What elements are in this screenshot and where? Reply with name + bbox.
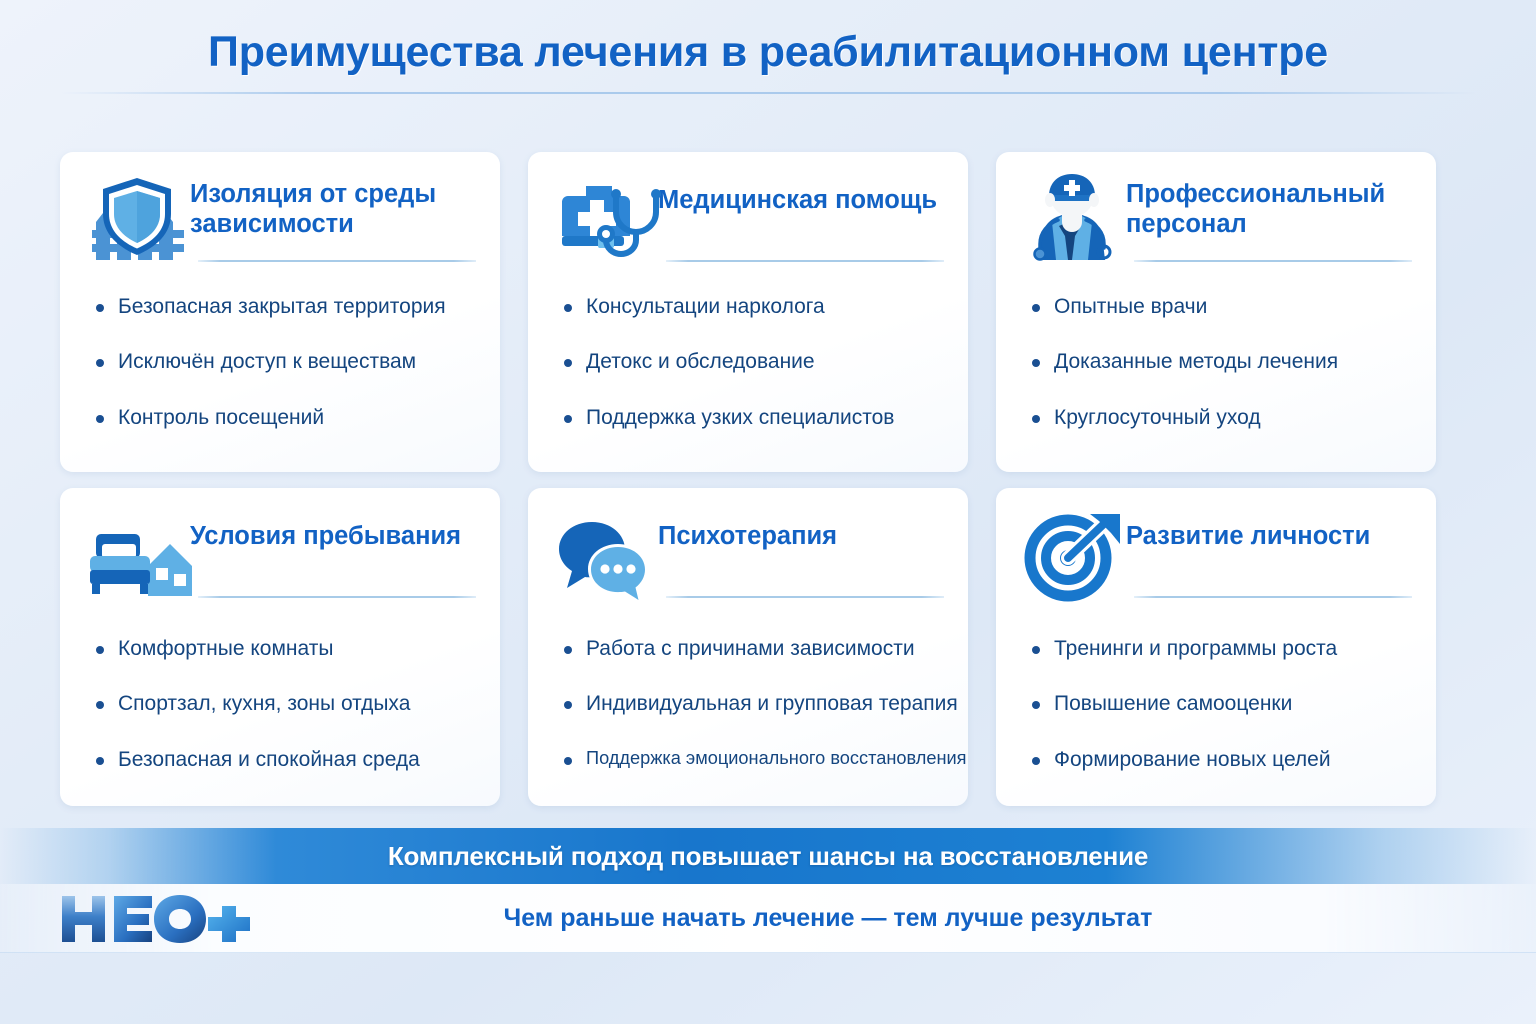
card-header: Психотерапия [528,488,968,606]
card-divider [1134,260,1412,262]
list-item: Контроль посещений [96,405,478,431]
header-divider [60,92,1476,94]
footer-banner: Комплексный подход повышает шансы на вос… [0,828,1536,884]
benefit-card-psychotherapy: Психотерапия Работа с причинами зависимо… [528,488,968,806]
benefit-card-accommodation: Условия пребывания Комфортные комнаты Сп… [60,488,500,806]
list-item: Поддержка узких специалистов [564,405,946,431]
doctor-icon [1022,172,1130,268]
card-title: Условия пребывания [190,510,461,552]
list-item: Безопасная и спокойная среда [96,747,478,773]
benefit-list: Работа с причинами зависимости Индивидуа… [528,606,968,769]
medical-kit-stethoscope-icon [554,172,662,268]
page-title: Преимущества лечения в реабилитационном … [0,28,1536,77]
shield-fence-icon [86,172,194,268]
header: Преимущества лечения в реабилитационном … [0,28,1536,77]
card-header: Развитие личности [996,488,1436,606]
benefit-list: Комфортные комнаты Спортзал, кухня, зоны… [60,606,500,773]
infographic-page: Преимущества лечения в реабилитационном … [0,0,1536,1024]
card-title: Развитие личности [1126,510,1370,552]
list-item: Тренинги и программы роста [1032,636,1414,662]
benefits-grid: Изоляция от среды зависимости Безопасная… [60,152,1476,806]
list-item: Спортзал, кухня, зоны отдыха [96,691,478,717]
list-item: Детокс и обследование [564,349,946,375]
list-item: Комфортные комнаты [96,636,478,662]
list-item: Доказанные методы лечения [1032,349,1414,375]
tagline-text: Чем раньше начать лечение — тем лучше ре… [504,904,1153,933]
target-arrow-icon [1022,508,1130,604]
benefit-list: Опытные врачи Доказанные методы лечения … [996,270,1436,431]
list-item: Индивидуальная и групповая терапия [564,691,946,717]
benefit-list: Консультации нарколога Детокс и обследов… [528,270,968,431]
card-header: Медицинская помощь [528,152,968,270]
card-title: Психотерапия [658,510,837,552]
banner-text: Комплексный подход повышает шансы на вос… [388,841,1148,872]
card-divider [666,596,944,598]
card-divider [198,596,476,598]
card-title: Медицинская помощь [658,174,937,216]
neo-plus-logo [56,890,266,948]
list-item: Консультации нарколога [564,294,946,320]
benefit-list: Тренинги и программы роста Повышение сам… [996,606,1436,773]
card-header: Изоляция от среды зависимости [60,152,500,270]
benefit-card-staff: Профессиональный персонал Опытные врачи … [996,152,1436,472]
list-item: Опытные врачи [1032,294,1414,320]
list-item: Поддержка эмоционального восстановления [564,747,946,770]
card-title: Изоляция от среды зависимости [190,174,474,239]
list-item: Формирование новых целей [1032,747,1414,773]
benefit-card-isolation: Изоляция от среды зависимости Безопасная… [60,152,500,472]
list-item: Круглосуточный уход [1032,405,1414,431]
card-divider [198,260,476,262]
card-header: Условия пребывания [60,488,500,606]
list-item: Безопасная закрытая территория [96,294,478,320]
list-item: Повышение самооценки [1032,691,1414,717]
list-item: Исключён доступ к веществам [96,349,478,375]
card-divider [1134,596,1412,598]
benefit-list: Безопасная закрытая территория Исключён … [60,270,500,431]
speech-bubbles-icon [554,508,662,604]
benefit-card-medical: Медицинская помощь Консультации нарколог… [528,152,968,472]
card-header: Профессиональный персонал [996,152,1436,270]
bed-house-icon [86,508,194,604]
list-item: Работа с причинами зависимости [564,636,946,662]
card-divider [666,260,944,262]
benefit-card-growth: Развитие личности Тренинги и программы р… [996,488,1436,806]
card-title: Профессиональный персонал [1126,174,1410,239]
